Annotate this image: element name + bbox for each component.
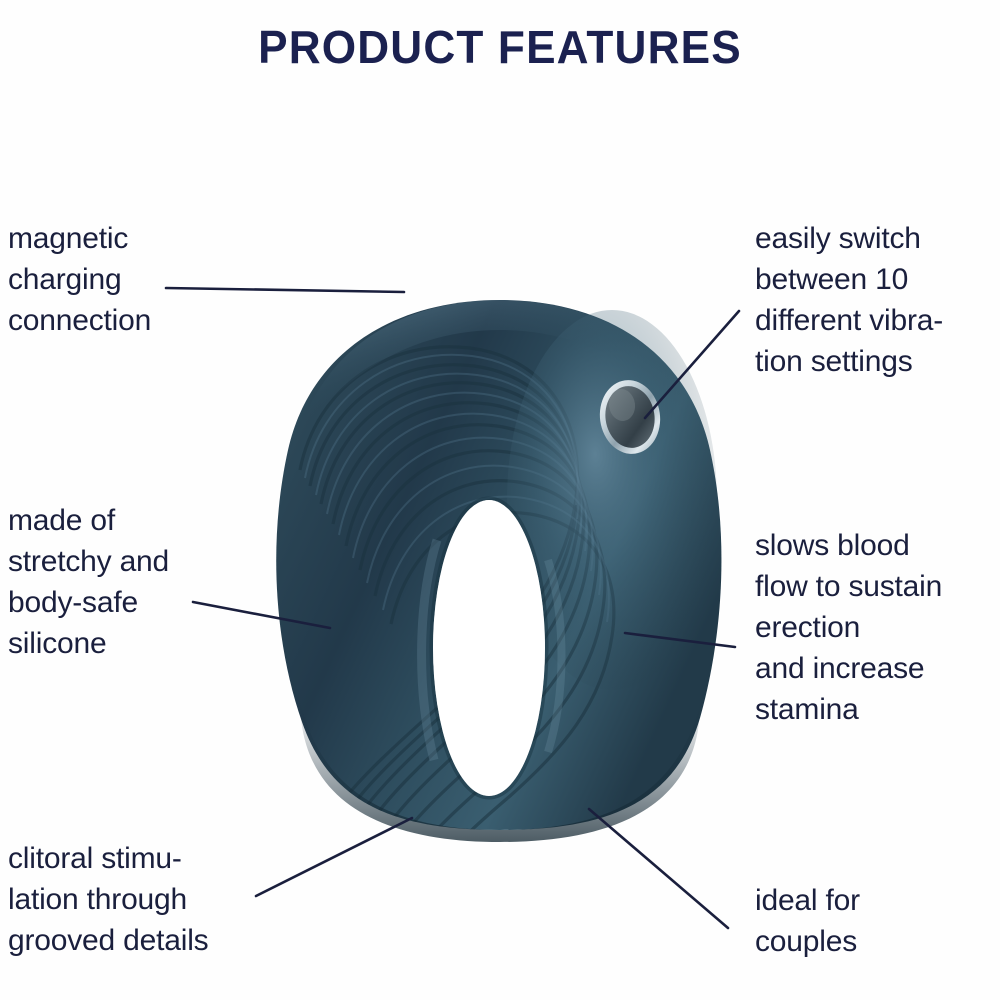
product-features-infographic: PRODUCT FEATURES xyxy=(0,0,1000,1000)
leader-line-ideal-couples xyxy=(589,809,728,928)
callout-clitoral-grooves: clitoral stimu- lation through grooved d… xyxy=(8,838,208,961)
leader-line-magnetic-charging xyxy=(166,288,404,292)
callout-blood-flow: slows blood flow to sustain erection and… xyxy=(755,525,942,730)
callout-ideal-couples: ideal for couples xyxy=(755,880,860,962)
product-ring-body xyxy=(276,300,721,886)
callout-stretchy-silicone: made of stretchy and body-safe silicone xyxy=(8,500,169,664)
leader-line-clitoral-grooves xyxy=(256,818,412,896)
callout-vibration-settings: easily switch between 10 different vibra… xyxy=(755,218,943,382)
ring-inner-hole-fill xyxy=(433,500,545,796)
callout-magnetic-charging: magnetic charging connection xyxy=(8,218,151,341)
